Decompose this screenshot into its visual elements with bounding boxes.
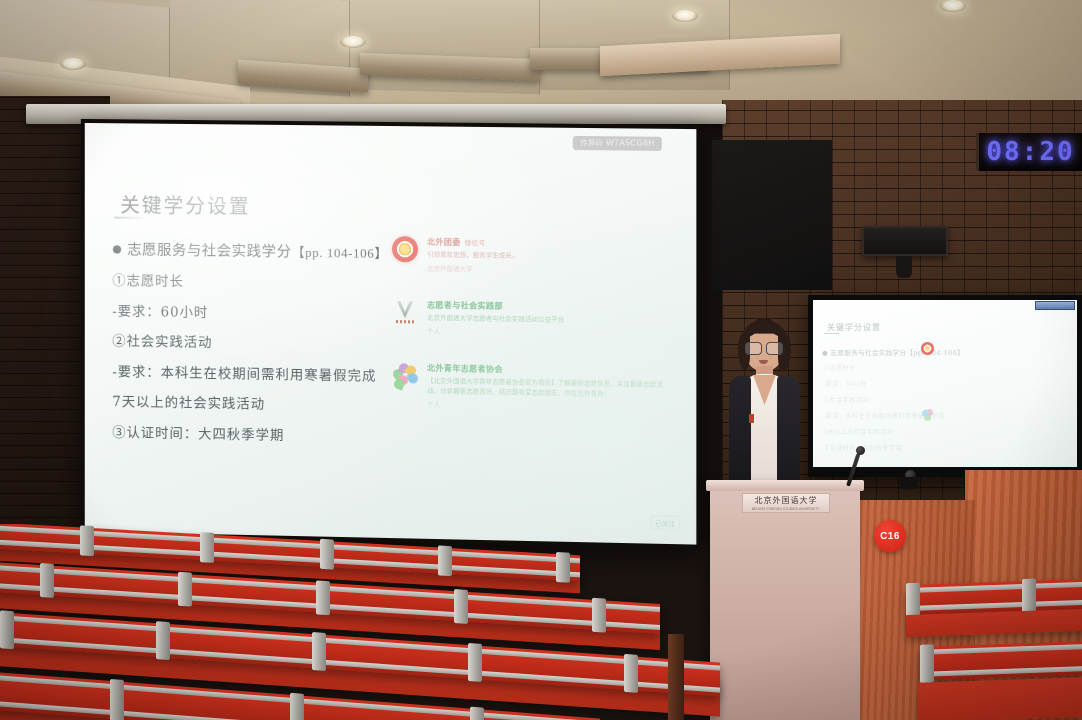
bullet-pages: 【pp. 104-106】 — [292, 245, 388, 261]
desk-divider — [468, 643, 482, 682]
support-post — [668, 634, 684, 720]
slide-line: ①志愿时长 — [112, 275, 440, 293]
speaker-mount — [896, 256, 912, 278]
blackboard — [712, 140, 832, 290]
seating-area — [0, 524, 1082, 720]
desk-divider — [556, 552, 570, 583]
monitor-seal-icon — [921, 342, 934, 355]
slide-line: 7天以上的社会实践活动 — [112, 396, 440, 415]
digital-clock: 08:20 — [976, 133, 1082, 171]
list-item: 北外青年志愿者协会 【北京外国语大学青年志愿者协会官方微信】了解最新志愿信息、关… — [392, 362, 664, 413]
cast-code-label: 传屏码 — [580, 140, 603, 147]
monitor-line: 7天以上的社会实践活动 — [823, 427, 893, 436]
result-name: 北外青年志愿者协会 — [427, 363, 664, 378]
desk-divider — [200, 532, 214, 563]
result-meta: 个人 — [427, 326, 664, 340]
lapel-badge — [749, 414, 754, 423]
desk-divider — [320, 539, 334, 570]
slide-line: ②社会实践活动 — [112, 336, 440, 355]
flower-bouquet-icon — [392, 362, 418, 388]
desk-divider — [316, 580, 330, 615]
desk-divider — [156, 621, 170, 660]
lectern-nameplate: 北京外国语大学 BEIJING FOREIGN STUDIES UNIVERSI… — [742, 493, 830, 513]
ceiling-downlight — [340, 36, 366, 48]
desk-divider — [312, 632, 326, 671]
desk-divider — [0, 610, 14, 649]
ceiling-panel — [350, 0, 540, 94]
window-controls-icon[interactable] — [1035, 301, 1075, 310]
desk-divider — [624, 654, 638, 693]
result-name: 志愿者与社会实践部 — [427, 300, 664, 315]
result-desc: 【北京外国语大学青年志愿者协会官方微信】了解最新志愿信息、关注最新志愿活动、分享… — [427, 377, 664, 401]
monitor-line: -要求：60小时 — [823, 379, 867, 388]
desk-divider — [1022, 579, 1036, 613]
monitor-bullet: ● 志愿服务与社会实践学分【pp. 104-106】 — [822, 347, 964, 357]
ceiling-downlight — [940, 0, 966, 12]
desk-divider — [290, 693, 304, 720]
monitor-title-underline — [824, 333, 839, 334]
slide-line: -要求：本科生在校期间需利用寒暑假完成 — [112, 366, 440, 385]
desk-divider — [920, 644, 934, 682]
slide-bullet-main: ●志愿服务与社会实践学分【pp. 104-106】 — [112, 238, 440, 263]
result-subtitle: 微信号 — [465, 240, 486, 247]
cast-code-badge: 传屏码W7A5CG6H — [573, 136, 662, 151]
desk-rail — [920, 644, 1082, 655]
glasses-icon — [745, 342, 783, 353]
bullet-dot-icon: ● — [112, 242, 122, 255]
wall-speaker — [862, 226, 948, 256]
result-meta: 北京外国语大学 — [427, 263, 664, 276]
monitor-flower-icon — [921, 408, 934, 421]
cast-code-value: W7A5CG6H — [606, 138, 655, 148]
slide-line: ③认证时间：大四秋季学期 — [112, 426, 440, 446]
slide-surface: 传屏码W7A5CG6H 关键学分设置 ●志愿服务与社会实践学分【pp. 104-… — [85, 123, 697, 545]
university-name-cn: 北京外国语大学 — [755, 495, 818, 506]
monitor-slide-title: 关键学分设置 — [827, 322, 881, 333]
lecture-hall-photo: 08:20 传屏码W7A5CG6H 关键学分设置 ●志愿服务与社会实践学分【pp… — [0, 0, 1082, 720]
bullet-main-text: 志愿服务与社会实践学分 — [127, 243, 291, 261]
monitor-slide-surface: 关键学分设置 ● 志愿服务与社会实践学分【pp. 104-106】 ①志愿时长 … — [813, 300, 1077, 467]
secondary-display: 关键学分设置 ● 志愿服务与社会实践学分【pp. 104-106】 ①志愿时长 … — [808, 295, 1082, 477]
list-item: 北外团委微信号 引领青年思想，服务学生成长。 北京外国语大学 — [392, 236, 664, 276]
desk-divider — [470, 707, 484, 720]
wheat-v-icon — [392, 299, 418, 325]
ceiling-downlight — [672, 10, 698, 22]
list-item: 志愿者与社会实践部 北京外国语大学志愿者与社会实践活动公益平台 个人 — [392, 299, 664, 339]
monitor-line: ①志愿时长 — [823, 363, 856, 372]
slide-line: -要求：60小时 — [112, 305, 440, 323]
title-underline — [114, 217, 147, 219]
microphone-icon — [856, 446, 865, 455]
projector-screen: 传屏码W7A5CG6H 关键学分设置 ●志愿服务与社会实践学分【pp. 104-… — [81, 119, 701, 549]
desk-divider — [40, 563, 54, 598]
result-name: 北外团委微信号 — [427, 237, 664, 251]
monitor-line: ②社会实践活动 — [823, 395, 869, 404]
desk-divider — [438, 545, 452, 576]
university-name-en: BEIJING FOREIGN STUDIES UNIVERSITY — [752, 507, 820, 511]
desk-surface — [918, 677, 1082, 720]
bfsu-league-seal-icon — [392, 236, 418, 262]
lectern-top — [706, 480, 864, 491]
desk-divider — [80, 525, 94, 556]
ceiling-downlight — [60, 58, 86, 70]
table-row — [920, 641, 1082, 681]
desk-divider — [906, 583, 920, 617]
clock-time: 08:20 — [986, 137, 1074, 167]
result-desc: 引领青年思想，服务学生成长。 — [427, 251, 664, 264]
account-result-list: 北外团委微信号 引领青年思想，服务学生成长。 北京外国语大学 志愿者与社会实践部… — [392, 236, 664, 440]
slide-title: 关键学分设置 — [120, 189, 250, 219]
monitor-stand — [900, 477, 918, 489]
result-meta: 个人 — [427, 399, 664, 413]
desk-rail — [906, 582, 1082, 593]
desk-divider — [592, 598, 606, 633]
desk-divider — [178, 572, 192, 607]
desk-rail — [920, 666, 1082, 677]
desk-divider — [454, 589, 468, 624]
desk-divider — [110, 679, 124, 720]
slide-body: ●志愿服务与社会实践学分【pp. 104-106】 ①志愿时长 -要求：60小时… — [112, 238, 440, 463]
